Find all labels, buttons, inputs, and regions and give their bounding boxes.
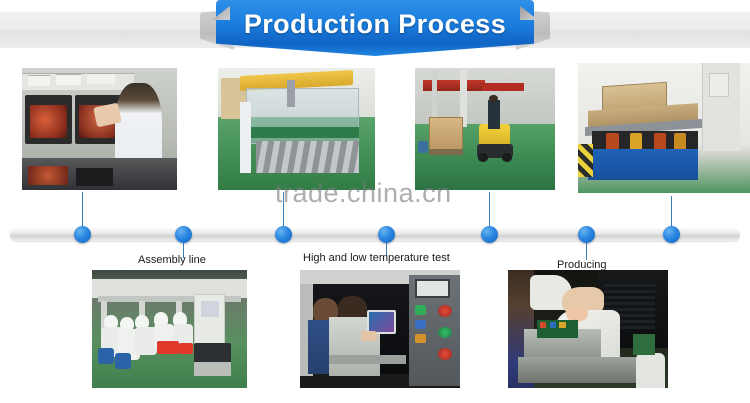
- photo-assembly-workers: [92, 270, 247, 388]
- photo-temperature-chamber: [300, 270, 460, 388]
- timeline-node-7[interactable]: [663, 226, 680, 243]
- caption-temperature-test: High and low temperature test: [303, 252, 450, 264]
- timeline-node-4[interactable]: [378, 226, 395, 243]
- production-process-infographic: Production Process: [0, 0, 750, 403]
- timeline-node-5[interactable]: [481, 226, 498, 243]
- timeline-track: [10, 228, 740, 241]
- title-ribbon: Production Process: [200, 0, 550, 62]
- timeline-node-2[interactable]: [175, 226, 192, 243]
- page-title: Production Process: [244, 9, 506, 40]
- photo-vibration-test: [578, 63, 750, 193]
- timeline-node-1[interactable]: [74, 226, 91, 243]
- ribbon-body: Production Process: [216, 0, 534, 56]
- photo-panel-testing: [22, 68, 177, 190]
- timeline-node-3[interactable]: [275, 226, 292, 243]
- photo-board-assembly: [508, 270, 668, 388]
- caption-assembly-line: Assembly line: [138, 254, 206, 266]
- timeline-node-6[interactable]: [578, 226, 595, 243]
- photo-conveyor-line: [218, 68, 375, 190]
- photo-forklift-warehouse: [415, 68, 555, 190]
